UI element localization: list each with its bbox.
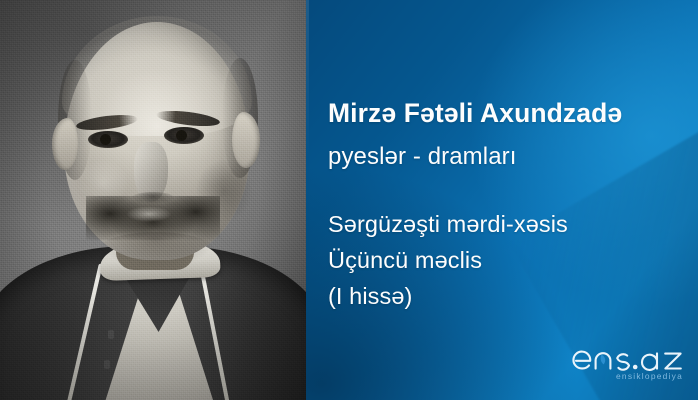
media-card: Mirzə Fətəli Axundzadə pyeslər - dramlar… — [0, 0, 698, 400]
author-name: Mirzə Fətəli Axundzadə — [328, 98, 622, 129]
leaf-accent-icon — [601, 355, 606, 365]
work-category: pyeslər - dramları — [328, 143, 517, 171]
panel-edge-highlight — [306, 0, 309, 400]
work-title: Sərgüzəşti mərdi-xəsis — [328, 211, 568, 238]
work-piece: (I hissə) — [328, 283, 412, 310]
logo-tagline: ensiklopediya — [616, 371, 683, 381]
portrait-photo — [0, 0, 306, 400]
logo-dot-icon — [633, 365, 638, 370]
info-panel: Mirzə Fətəli Axundzadə pyeslər - dramlar… — [306, 0, 698, 400]
ens-az-logo[interactable]: ensiklopediya — [572, 340, 684, 382]
work-part: Üçüncü məclis — [328, 247, 482, 274]
photo-vignette — [0, 0, 306, 400]
